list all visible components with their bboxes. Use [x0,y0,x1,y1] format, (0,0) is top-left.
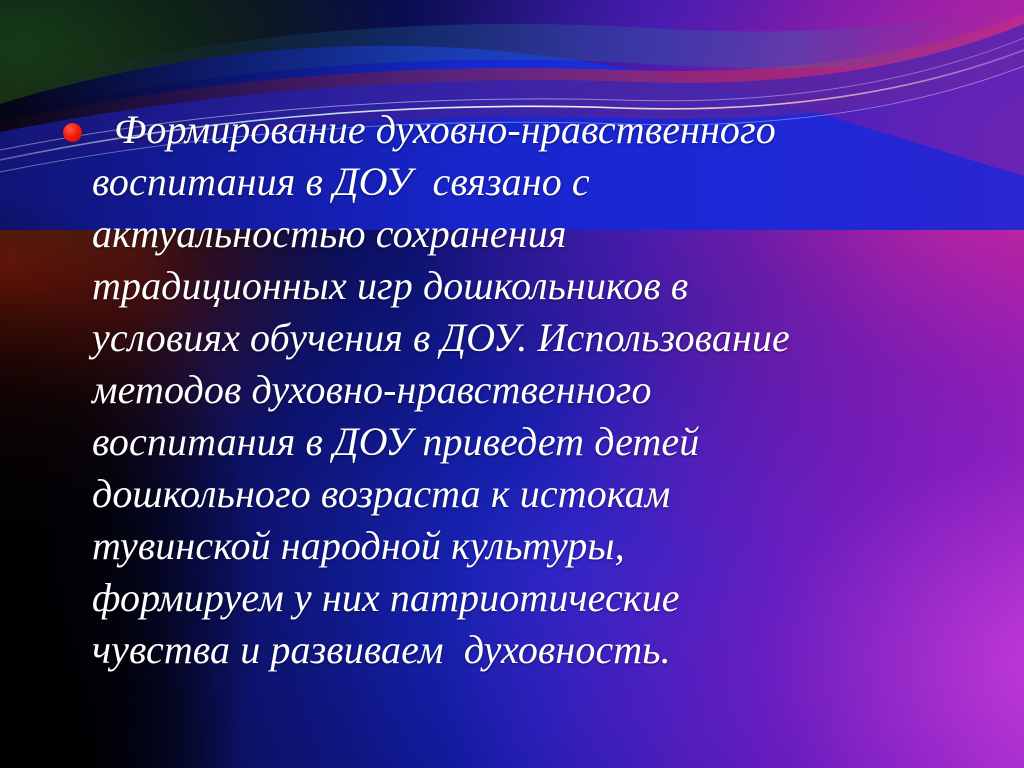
text-line: формируем у них патриотические [92,572,990,624]
text-line: условиях обучения в ДОУ. Использование [92,312,990,364]
text-line: актуальностью сохранения [92,208,990,260]
text-line: чувства и развиваем духовность. [92,624,990,676]
red-bullet-dot-icon [63,123,82,142]
text-line: методов духовно-нравственного [92,364,990,416]
text-line: воспитания в ДОУ связано с [92,156,990,208]
text-line: Формирование духовно-нравственного [92,104,990,156]
text-line: тувинской народной культуры, [92,520,990,572]
body-text: Формирование духовно-нравственного воспи… [60,104,990,676]
text-line: традиционных игр дошкольников в [92,260,990,312]
text-line: воспитания в ДОУ приведет детей [92,416,990,468]
presentation-slide: Формирование духовно-нравственного воспи… [0,0,1024,768]
slide-content: Формирование духовно-нравственного воспи… [0,0,1024,768]
bullet-paragraph: Формирование духовно-нравственного воспи… [60,104,990,676]
text-line: дошкольного возраста к истокам [92,468,990,520]
